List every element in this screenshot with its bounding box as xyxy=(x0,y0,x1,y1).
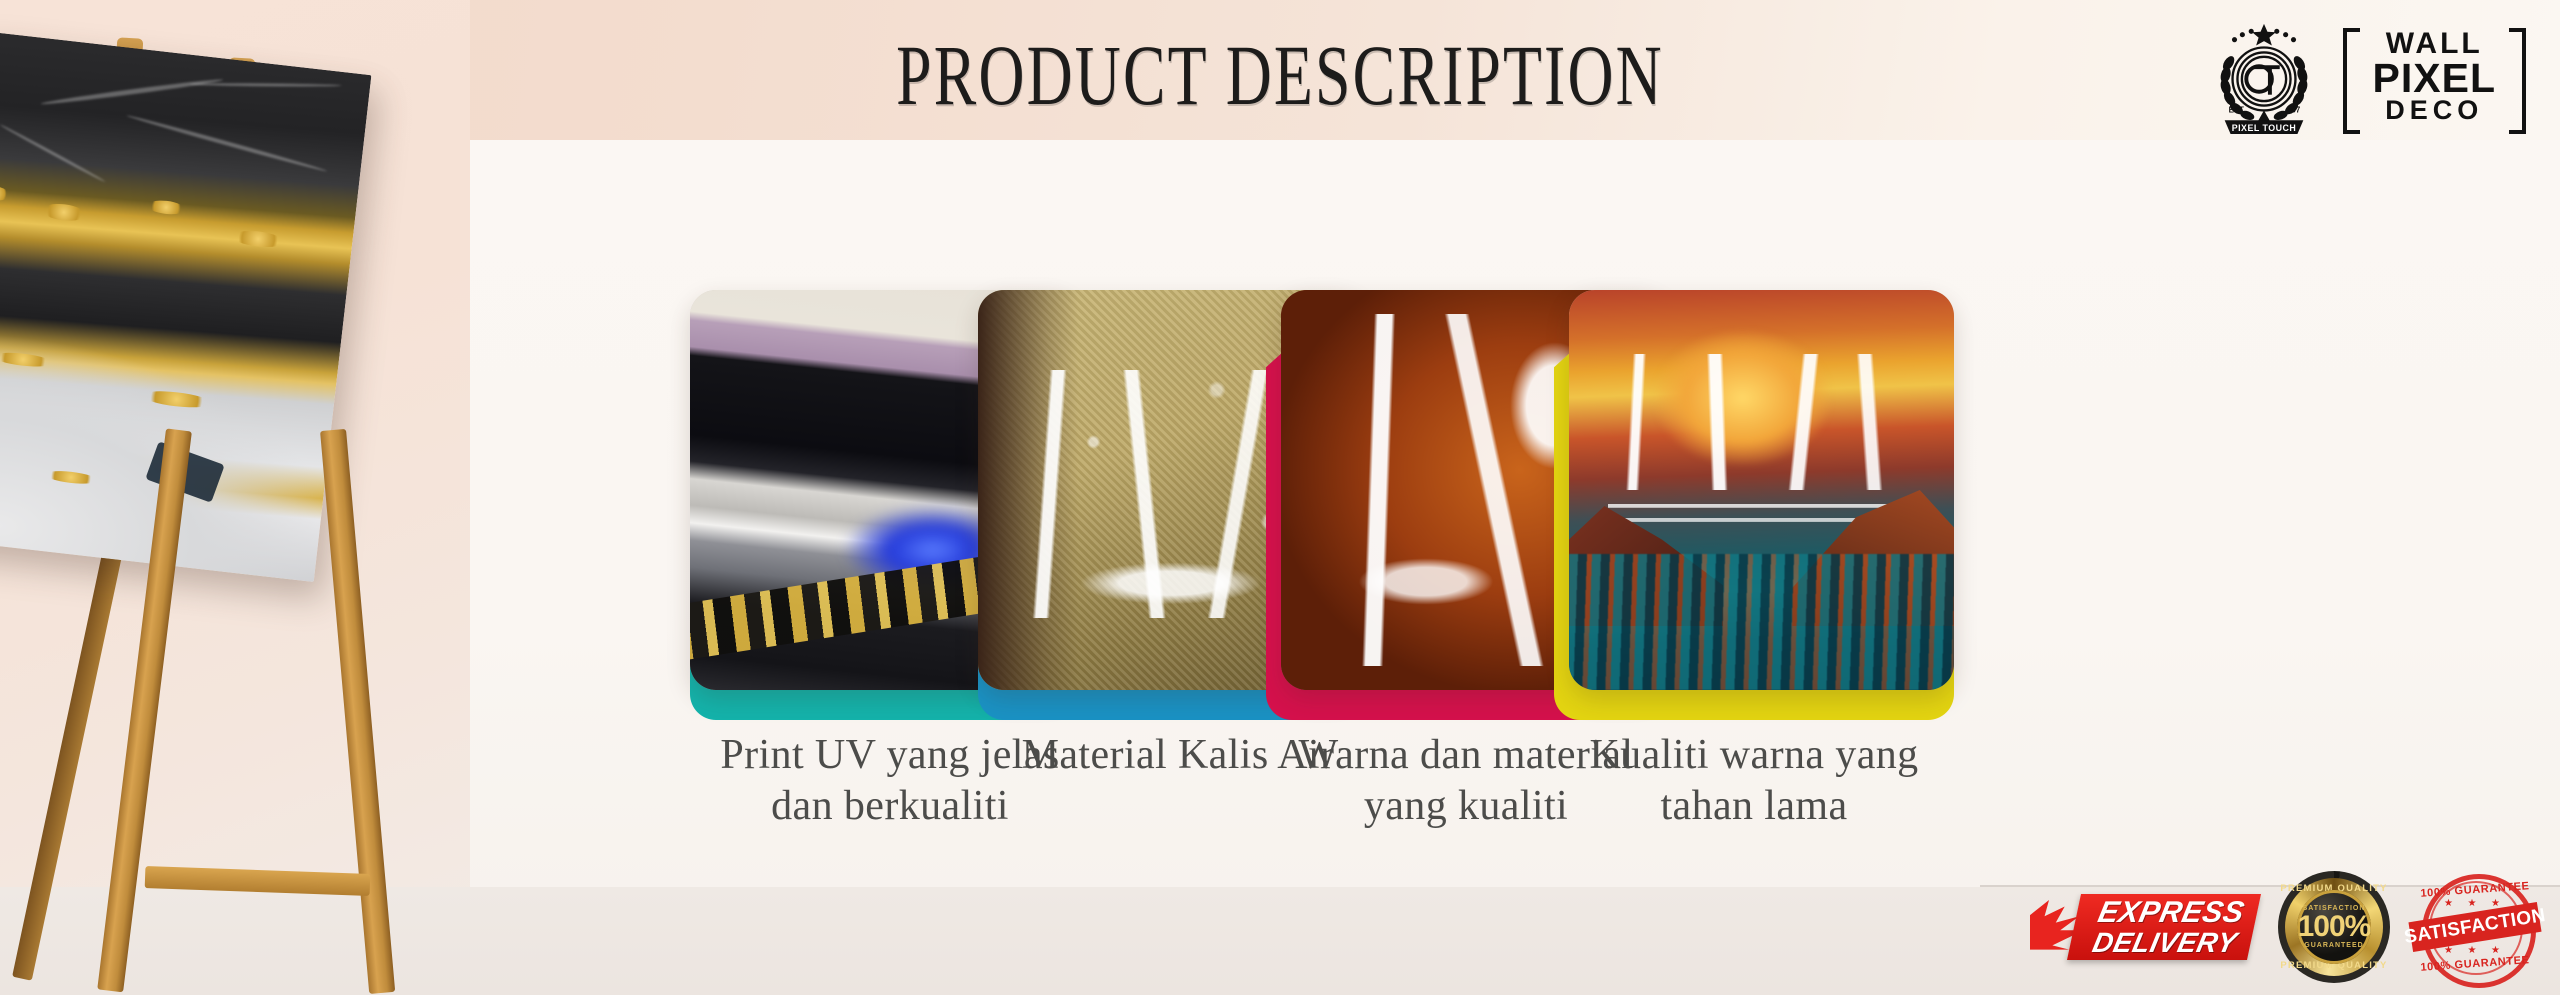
feature-card-4[interactable]: Kualiti warna yang tahan lama xyxy=(1554,300,1954,720)
easel-crossbar xyxy=(145,866,371,896)
page-title: PRODUCT DESCRIPTION xyxy=(333,32,2227,118)
long-lasting-color-photo xyxy=(1569,290,1954,690)
crest-est-label: EST. xyxy=(2228,105,2245,114)
easel-front-leg-right xyxy=(320,429,395,994)
premium-quality-badge: PREMIUM QUALITY PREMIUM QUALITY SATISFAC… xyxy=(2278,871,2390,983)
feature-card-list: Print UV yang jelas dan berkualiti Mater… xyxy=(690,300,2530,720)
express-delivery-badge: EXPRESS DELIVERY xyxy=(2052,888,2252,966)
brand-logo[interactable]: EST. 07 PIXEL TOUCH WALL PIXEL DECO xyxy=(2205,18,2526,136)
express-delivery-line1: EXPRESS xyxy=(2095,898,2247,929)
crest-ribbon-label: PIXEL TOUCH xyxy=(2231,123,2296,133)
bracket-left-icon xyxy=(2343,28,2360,134)
trust-badge-group: EXPRESS DELIVERY PREMIUM QUALITY PREMIUM… xyxy=(2052,871,2534,983)
premium-badge-percent: 100% xyxy=(2298,912,2371,942)
feature-card-1-caption-line2: dan berkualiti xyxy=(670,781,1110,832)
brand-line-pixel: PIXEL xyxy=(2373,59,2496,98)
hero-easel-display xyxy=(0,0,450,995)
bracket-right-icon xyxy=(2509,28,2526,134)
feature-card-4-caption: Kualiti warna yang tahan lama xyxy=(1534,730,1974,832)
wall-pixel-deco-wordmark: WALL PIXEL DECO xyxy=(2343,24,2526,130)
feature-card-4-caption-line2: tahan lama xyxy=(1534,781,1974,832)
pixel-touch-crest-icon: EST. 07 PIXEL TOUCH xyxy=(2205,18,2323,136)
premium-badge-guaranteed-label: GUARANTEED xyxy=(2304,942,2363,949)
product-description-banner: PRODUCT DESCRIPTION xyxy=(0,0,2560,995)
satisfaction-guarantee-badge: 100% GUARANTEE ★ ★ ★ SATISFACTION ★ ★ ★ … xyxy=(2416,872,2534,982)
crest-year-label: 07 xyxy=(2291,105,2300,114)
feature-card-4-caption-line1: Kualiti warna yang xyxy=(1534,730,1974,781)
marble-canvas-artwork xyxy=(0,30,371,582)
express-delivery-line2: DELIVERY xyxy=(2090,929,2240,958)
brand-line-deco: DECO xyxy=(2385,98,2483,124)
premium-badge-core: SATISFACTION 100% GUARANTEED xyxy=(2297,890,2371,964)
